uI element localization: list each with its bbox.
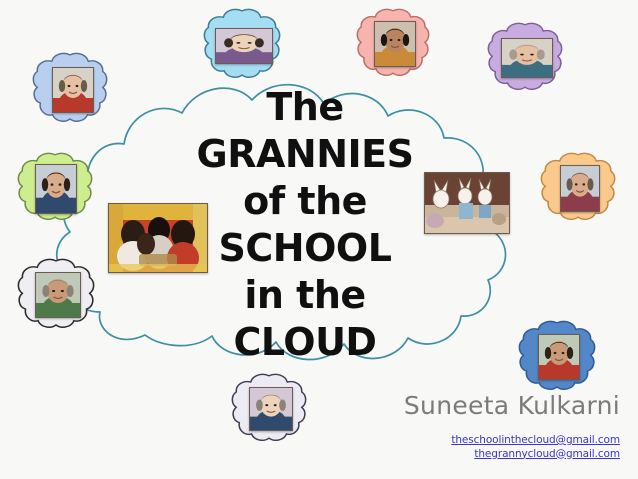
- email-link-school[interactable]: theschoolinthecloud@gmail.com: [320, 434, 620, 448]
- bubble-photo: [35, 272, 81, 318]
- bubble-photo: [35, 164, 77, 214]
- bubble-photo: [560, 165, 600, 212]
- bubble-portrait-image: [216, 29, 272, 63]
- page-title: The GRANNIES of the SCHOOL in the CLOUD: [155, 84, 455, 366]
- contact-email-list: theschoolinthecloud@gmail.com thegrannyc…: [320, 434, 620, 461]
- bubble-photo: [538, 334, 580, 380]
- title-line-1: The: [155, 84, 455, 131]
- bubble-portrait-image: [502, 39, 552, 77]
- email-link-granny[interactable]: thegrannycloud@gmail.com: [320, 448, 620, 462]
- title-line-4: SCHOOL: [155, 225, 455, 272]
- title-line-2: GRANNIES: [155, 131, 455, 178]
- title-line-3: of the: [155, 178, 455, 225]
- bubble-photo: [215, 28, 273, 64]
- granny-bubble-top-center: [203, 8, 281, 80]
- bubble-photo: [249, 387, 293, 431]
- bubble-portrait-image: [539, 335, 579, 379]
- granny-bubble-right-orange: [540, 152, 616, 222]
- bubble-portrait-image: [561, 166, 599, 211]
- granny-bubble-top-pink: [356, 8, 430, 78]
- bubble-portrait-image: [250, 388, 292, 430]
- title-line-6: CLOUD: [155, 319, 455, 366]
- granny-bubble-bottom-center: [231, 373, 307, 443]
- presentation-slide: The GRANNIES of the SCHOOL in the CLOUD: [0, 0, 638, 479]
- bubble-portrait-image: [36, 165, 76, 213]
- granny-bubble-left-upper: [17, 152, 93, 222]
- granny-bubble-top-left: [32, 52, 108, 124]
- bubble-portrait-image: [375, 22, 415, 66]
- bubble-photo: [52, 67, 94, 113]
- bubble-portrait-image: [36, 273, 80, 317]
- bubble-portrait-image: [53, 68, 93, 112]
- bubble-photo: [374, 21, 416, 67]
- granny-bubble-top-right: [487, 22, 563, 92]
- granny-bubble-left-lower: [17, 258, 95, 330]
- title-line-5: in the: [155, 272, 455, 319]
- granny-bubble-bottom-right: [518, 320, 596, 392]
- bubble-photo: [501, 38, 553, 78]
- author-name: Suneeta Kulkarni: [330, 392, 620, 420]
